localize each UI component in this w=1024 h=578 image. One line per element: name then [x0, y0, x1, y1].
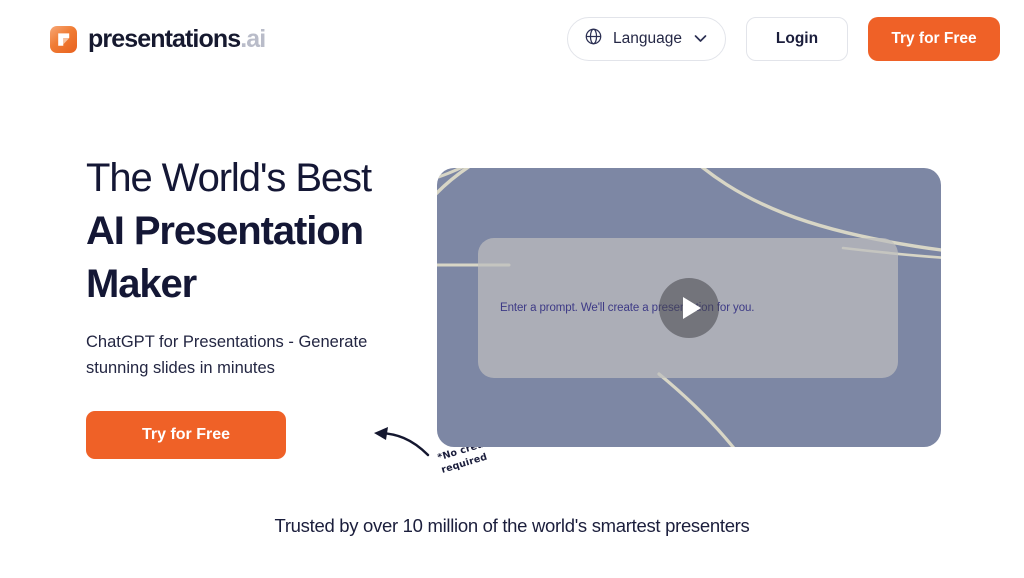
- brand-name-suffix: .ai: [240, 25, 265, 53]
- headline-line-3: Maker: [86, 258, 426, 311]
- header-actions: Language Login Try for Free: [567, 17, 1000, 61]
- site-header: presentations.ai Language Login Try for …: [0, 0, 1024, 78]
- presentations-ai-logo-icon: [50, 26, 77, 53]
- hero-video-panel[interactable]: Enter a prompt. We'll create a presentat…: [437, 168, 941, 447]
- language-label: Language: [613, 30, 682, 48]
- trust-statement: Trusted by over 10 million of the world'…: [0, 515, 1024, 537]
- globe-icon: [584, 27, 603, 51]
- play-triangle: [683, 297, 701, 319]
- brand-name-main: presentations: [88, 25, 240, 53]
- headline-line-1: The World's Best: [86, 152, 426, 205]
- chevron-down-icon: [694, 30, 707, 48]
- brand-name: presentations.ai: [88, 25, 265, 54]
- play-icon[interactable]: [659, 278, 719, 338]
- try-for-free-button-header[interactable]: Try for Free: [868, 17, 1000, 61]
- hero-subheadline: ChatGPT for Presentations - Generate stu…: [86, 329, 386, 381]
- headline-line-2: AI Presentation: [86, 205, 426, 258]
- page-title: The World's Best AI Presentation Maker: [86, 152, 426, 311]
- try-for-free-button-hero[interactable]: Try for Free: [86, 411, 286, 459]
- login-button[interactable]: Login: [746, 17, 848, 61]
- language-selector[interactable]: Language: [567, 17, 726, 61]
- hero-left-column: The World's Best AI Presentation Maker C…: [86, 152, 426, 381]
- brand-logo[interactable]: presentations.ai: [50, 25, 265, 54]
